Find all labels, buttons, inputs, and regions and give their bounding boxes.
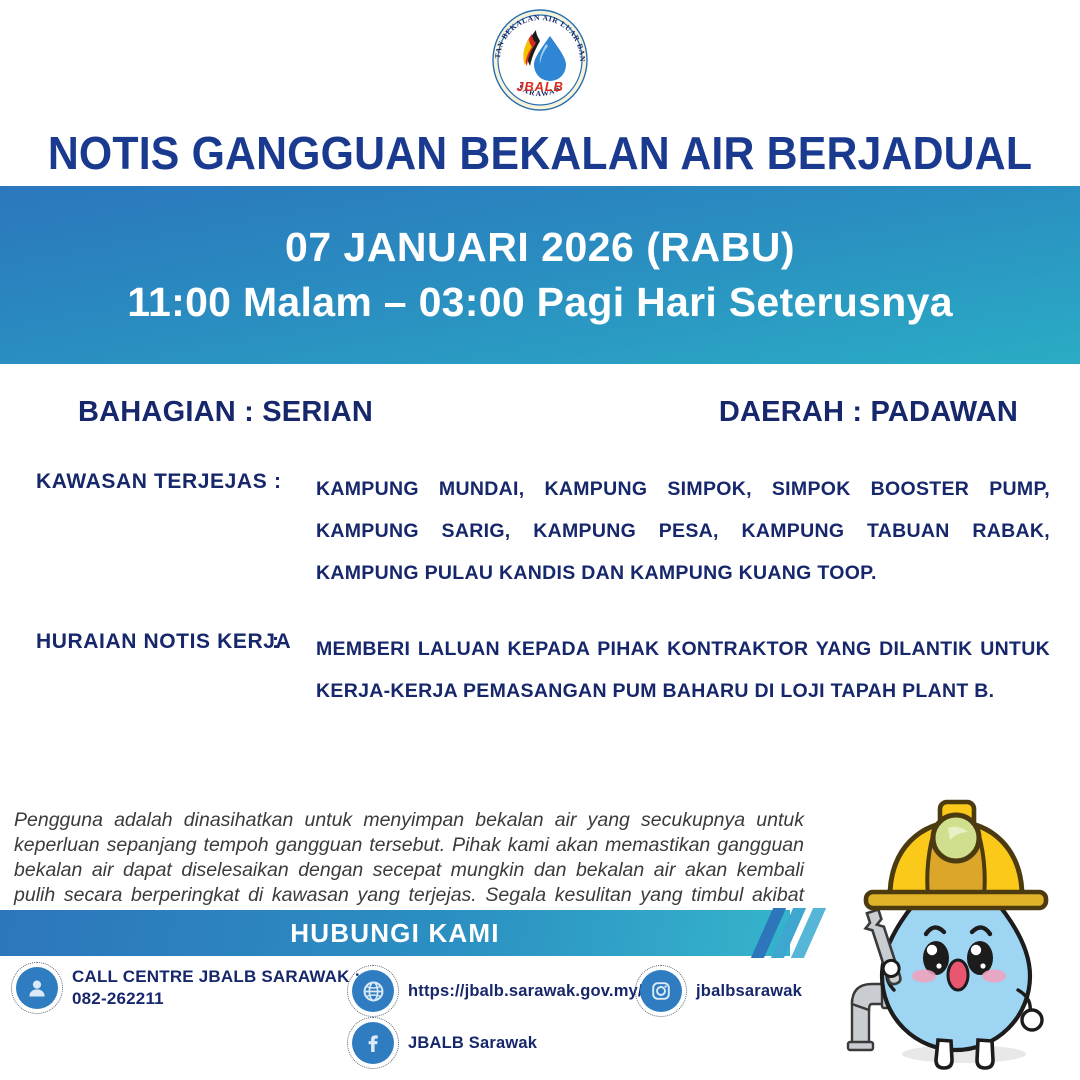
water-disruption-notice-poster: JABATAN BEKALAN AIR LUAR BANDAR SARAWAK …: [0, 0, 1080, 1080]
instagram-text: jbalbsarawak: [696, 980, 802, 1002]
region-row: BAHAGIAN : SERIAN DAERAH : PADAWAN: [0, 396, 1080, 438]
page-title: NOTIS GANGGUAN BEKALAN AIR BERJADUAL: [38, 126, 1042, 180]
website-item[interactable]: https://jbalb.sarawak.gov.my/: [352, 970, 643, 1012]
call-centre-text: CALL CENTRE JBALB SARAWAK : 082-262211: [72, 966, 360, 1010]
globe-icon: [352, 970, 394, 1012]
affected-areas-value: KAMPUNG MUNDAI, KAMPUNG SIMPOK, SIMPOK B…: [316, 468, 1050, 594]
contact-bar: HUBUNGI KAMI: [0, 910, 790, 956]
facebook-icon: [352, 1022, 394, 1064]
work-description-colon: :: [272, 630, 279, 654]
water-droplet-mascot: [832, 792, 1080, 1080]
district-label: DAERAH : PADAWAN: [719, 396, 1018, 429]
decorative-slashes: [762, 908, 832, 958]
work-description-label: HURAIAN NOTIS KERJA: [36, 630, 291, 654]
svg-text:JBALB: JBALB: [516, 79, 563, 94]
jbalb-logo: JABATAN BEKALAN AIR LUAR BANDAR SARAWAK …: [488, 8, 592, 112]
notice-date: 07 JANUARI 2026 (RABU): [285, 224, 795, 271]
affected-areas-colon: :: [274, 470, 281, 494]
call-centre-item[interactable]: CALL CENTRE JBALB SARAWAK : 082-262211: [16, 966, 360, 1010]
date-time-banner: 07 JANUARI 2026 (RABU) 11:00 Malam – 03:…: [0, 186, 1080, 364]
work-description-value: MEMBERI LALUAN KEPADA PIHAK KONTRAKTOR Y…: [316, 628, 1050, 712]
facebook-text: JBALB Sarawak: [408, 1032, 537, 1054]
person-icon: [16, 967, 58, 1009]
facebook-item[interactable]: JBALB Sarawak: [352, 1022, 537, 1064]
contact-bar-title: HUBUNGI KAMI: [290, 918, 499, 949]
hard-hat-icon: [866, 802, 1046, 908]
division-label: BAHAGIAN : SERIAN: [78, 396, 373, 429]
affected-areas-label: KAWASAN TERJEJAS: [36, 470, 267, 494]
website-text: https://jbalb.sarawak.gov.my/: [408, 980, 643, 1002]
instagram-item[interactable]: jbalbsarawak: [640, 970, 802, 1012]
notice-time: 11:00 Malam – 03:00 Pagi Hari Seterusnya: [127, 279, 953, 326]
instagram-icon: [640, 970, 682, 1012]
